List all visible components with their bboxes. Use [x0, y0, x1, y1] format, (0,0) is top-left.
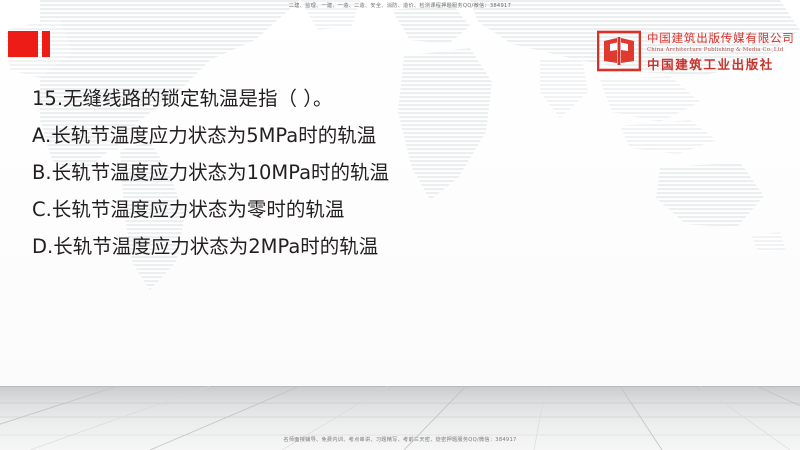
bottom-watermark-text: 名师面授辅导、免费内训、考点串讲、习题精写、考前三天密、徒密押题服务QQ/微信：…: [0, 436, 800, 443]
question-option-a[interactable]: A.长轨节温度应力状态为5MPa时的轨温: [32, 117, 592, 154]
top-watermark-text: 二建、监理、一建、一造、二造、安全、消防、造价、检测课程押题服务QQ/微信：38…: [0, 2, 800, 9]
question-option-c[interactable]: C.长轨节温度应力状态为零时的轨温: [32, 191, 592, 228]
publisher-logo-text: 中国建筑出版传媒有限公司 China Architecture Publishi…: [647, 30, 795, 73]
question-option-d[interactable]: D.长轨节温度应力状态为2MPa时的轨温: [32, 228, 592, 265]
question-stem: 15.无缝线路的锁定轨温是指（ ）。: [32, 80, 592, 117]
open-book-logo-icon: [597, 29, 641, 73]
presentation-slide: 二建、监理、一建、一造、二造、安全、消防、造价、检测课程押题服务QQ/微信：38…: [0, 0, 800, 450]
question-option-b[interactable]: B.长轨节温度应力状态为10MPa时的轨温: [32, 154, 592, 191]
red-accent-block-large: [8, 31, 38, 57]
publisher-logo: 中国建筑出版传媒有限公司 China Architecture Publishi…: [597, 26, 793, 76]
question-block: 15.无缝线路的锁定轨温是指（ ）。 A.长轨节温度应力状态为5MPa时的轨温 …: [32, 80, 592, 265]
publisher-imprint-cn: 中国建筑工业出版社: [647, 54, 795, 73]
publisher-name-cn: 中国建筑出版传媒有限公司: [647, 30, 795, 46]
red-accent-block-small: [42, 31, 50, 57]
publisher-name-en: China Architecture Publishing & Media Co…: [647, 47, 795, 53]
